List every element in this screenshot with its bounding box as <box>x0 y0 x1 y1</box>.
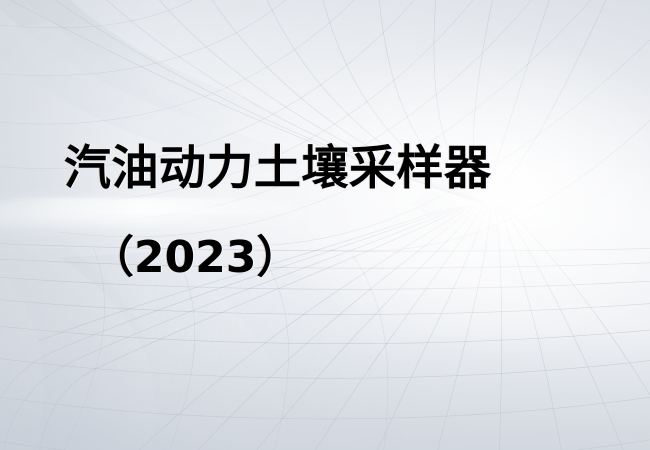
title-slide: 汽油动力土壤采样器 （2023） <box>0 0 650 450</box>
slide-title: 汽油动力土壤采样器 <box>64 145 492 192</box>
slide-subtitle-year: （2023） <box>90 236 300 280</box>
slide-text-layer: 汽油动力土壤采样器 （2023） <box>0 0 650 450</box>
